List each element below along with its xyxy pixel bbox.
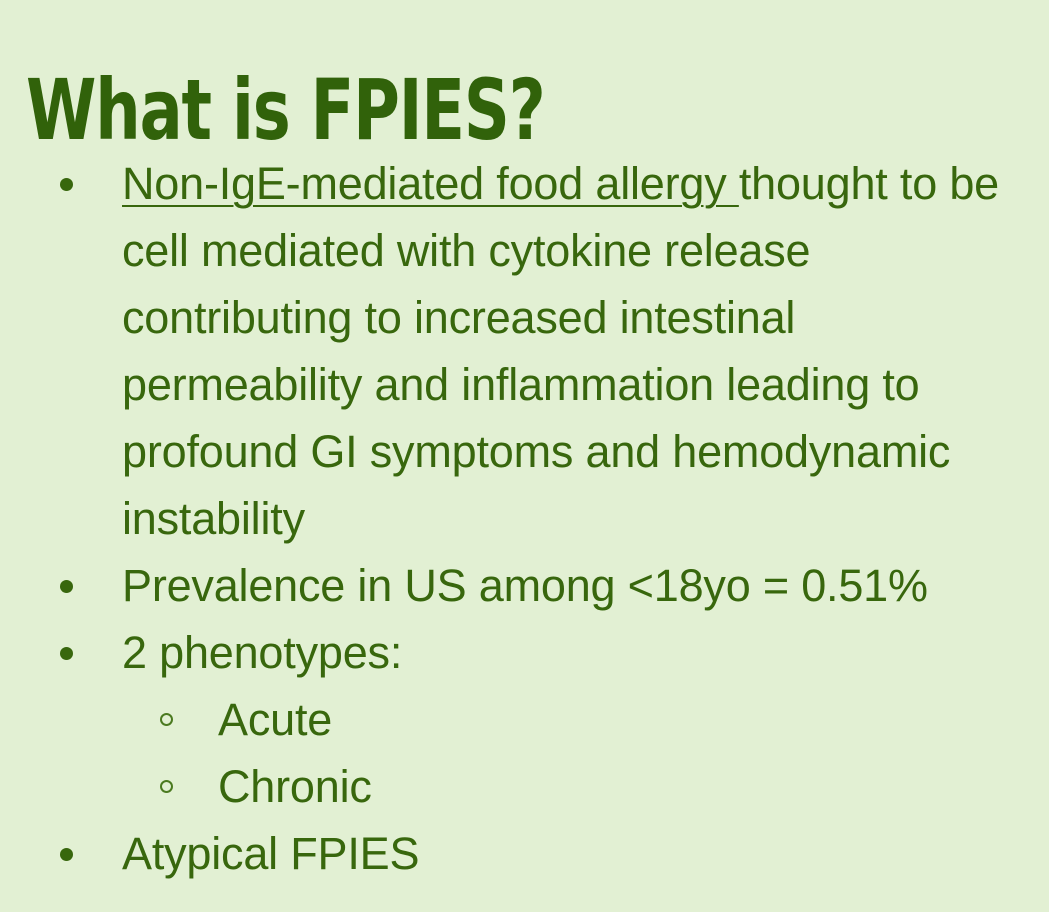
sub-bullet-text: Chronic <box>218 761 372 812</box>
bullet-dot-icon <box>60 848 73 861</box>
list-item: Atypical FPIES <box>0 820 1049 887</box>
bullet-dot-icon <box>60 580 73 593</box>
page-title: What is FPIES? <box>26 68 786 152</box>
bullet-circle-icon <box>160 780 173 793</box>
slide: What is FPIES? Non-IgE-mediated food all… <box>0 0 1049 912</box>
sub-bullet-text: Acute <box>218 694 332 745</box>
bullet-emphasis-text: Non-IgE-mediated food allergy <box>122 158 739 209</box>
list-item: Acute <box>122 686 1019 753</box>
list-item: 2 phenotypes: Acute Chronic <box>0 619 1049 820</box>
sub-bullet-list: Acute Chronic <box>122 686 1019 820</box>
bullet-list: Non-IgE-mediated food allergy thought to… <box>0 150 1049 887</box>
bullet-text: thought to be cell mediated with cytokin… <box>122 158 999 544</box>
bullet-dot-icon <box>60 178 73 191</box>
list-item: Non-IgE-mediated food allergy thought to… <box>0 150 1049 552</box>
list-item: Chronic <box>122 753 1019 820</box>
bullet-dot-icon <box>60 647 73 660</box>
bullet-text: 2 phenotypes: <box>122 627 402 678</box>
bullet-text: Atypical FPIES <box>122 828 419 879</box>
bullet-text: Prevalence in US among <18yo = 0.51% <box>122 560 928 611</box>
list-item: Prevalence in US among <18yo = 0.51% <box>0 552 1049 619</box>
bullet-circle-icon <box>160 713 173 726</box>
slide-body: Non-IgE-mediated food allergy thought to… <box>0 150 1049 887</box>
